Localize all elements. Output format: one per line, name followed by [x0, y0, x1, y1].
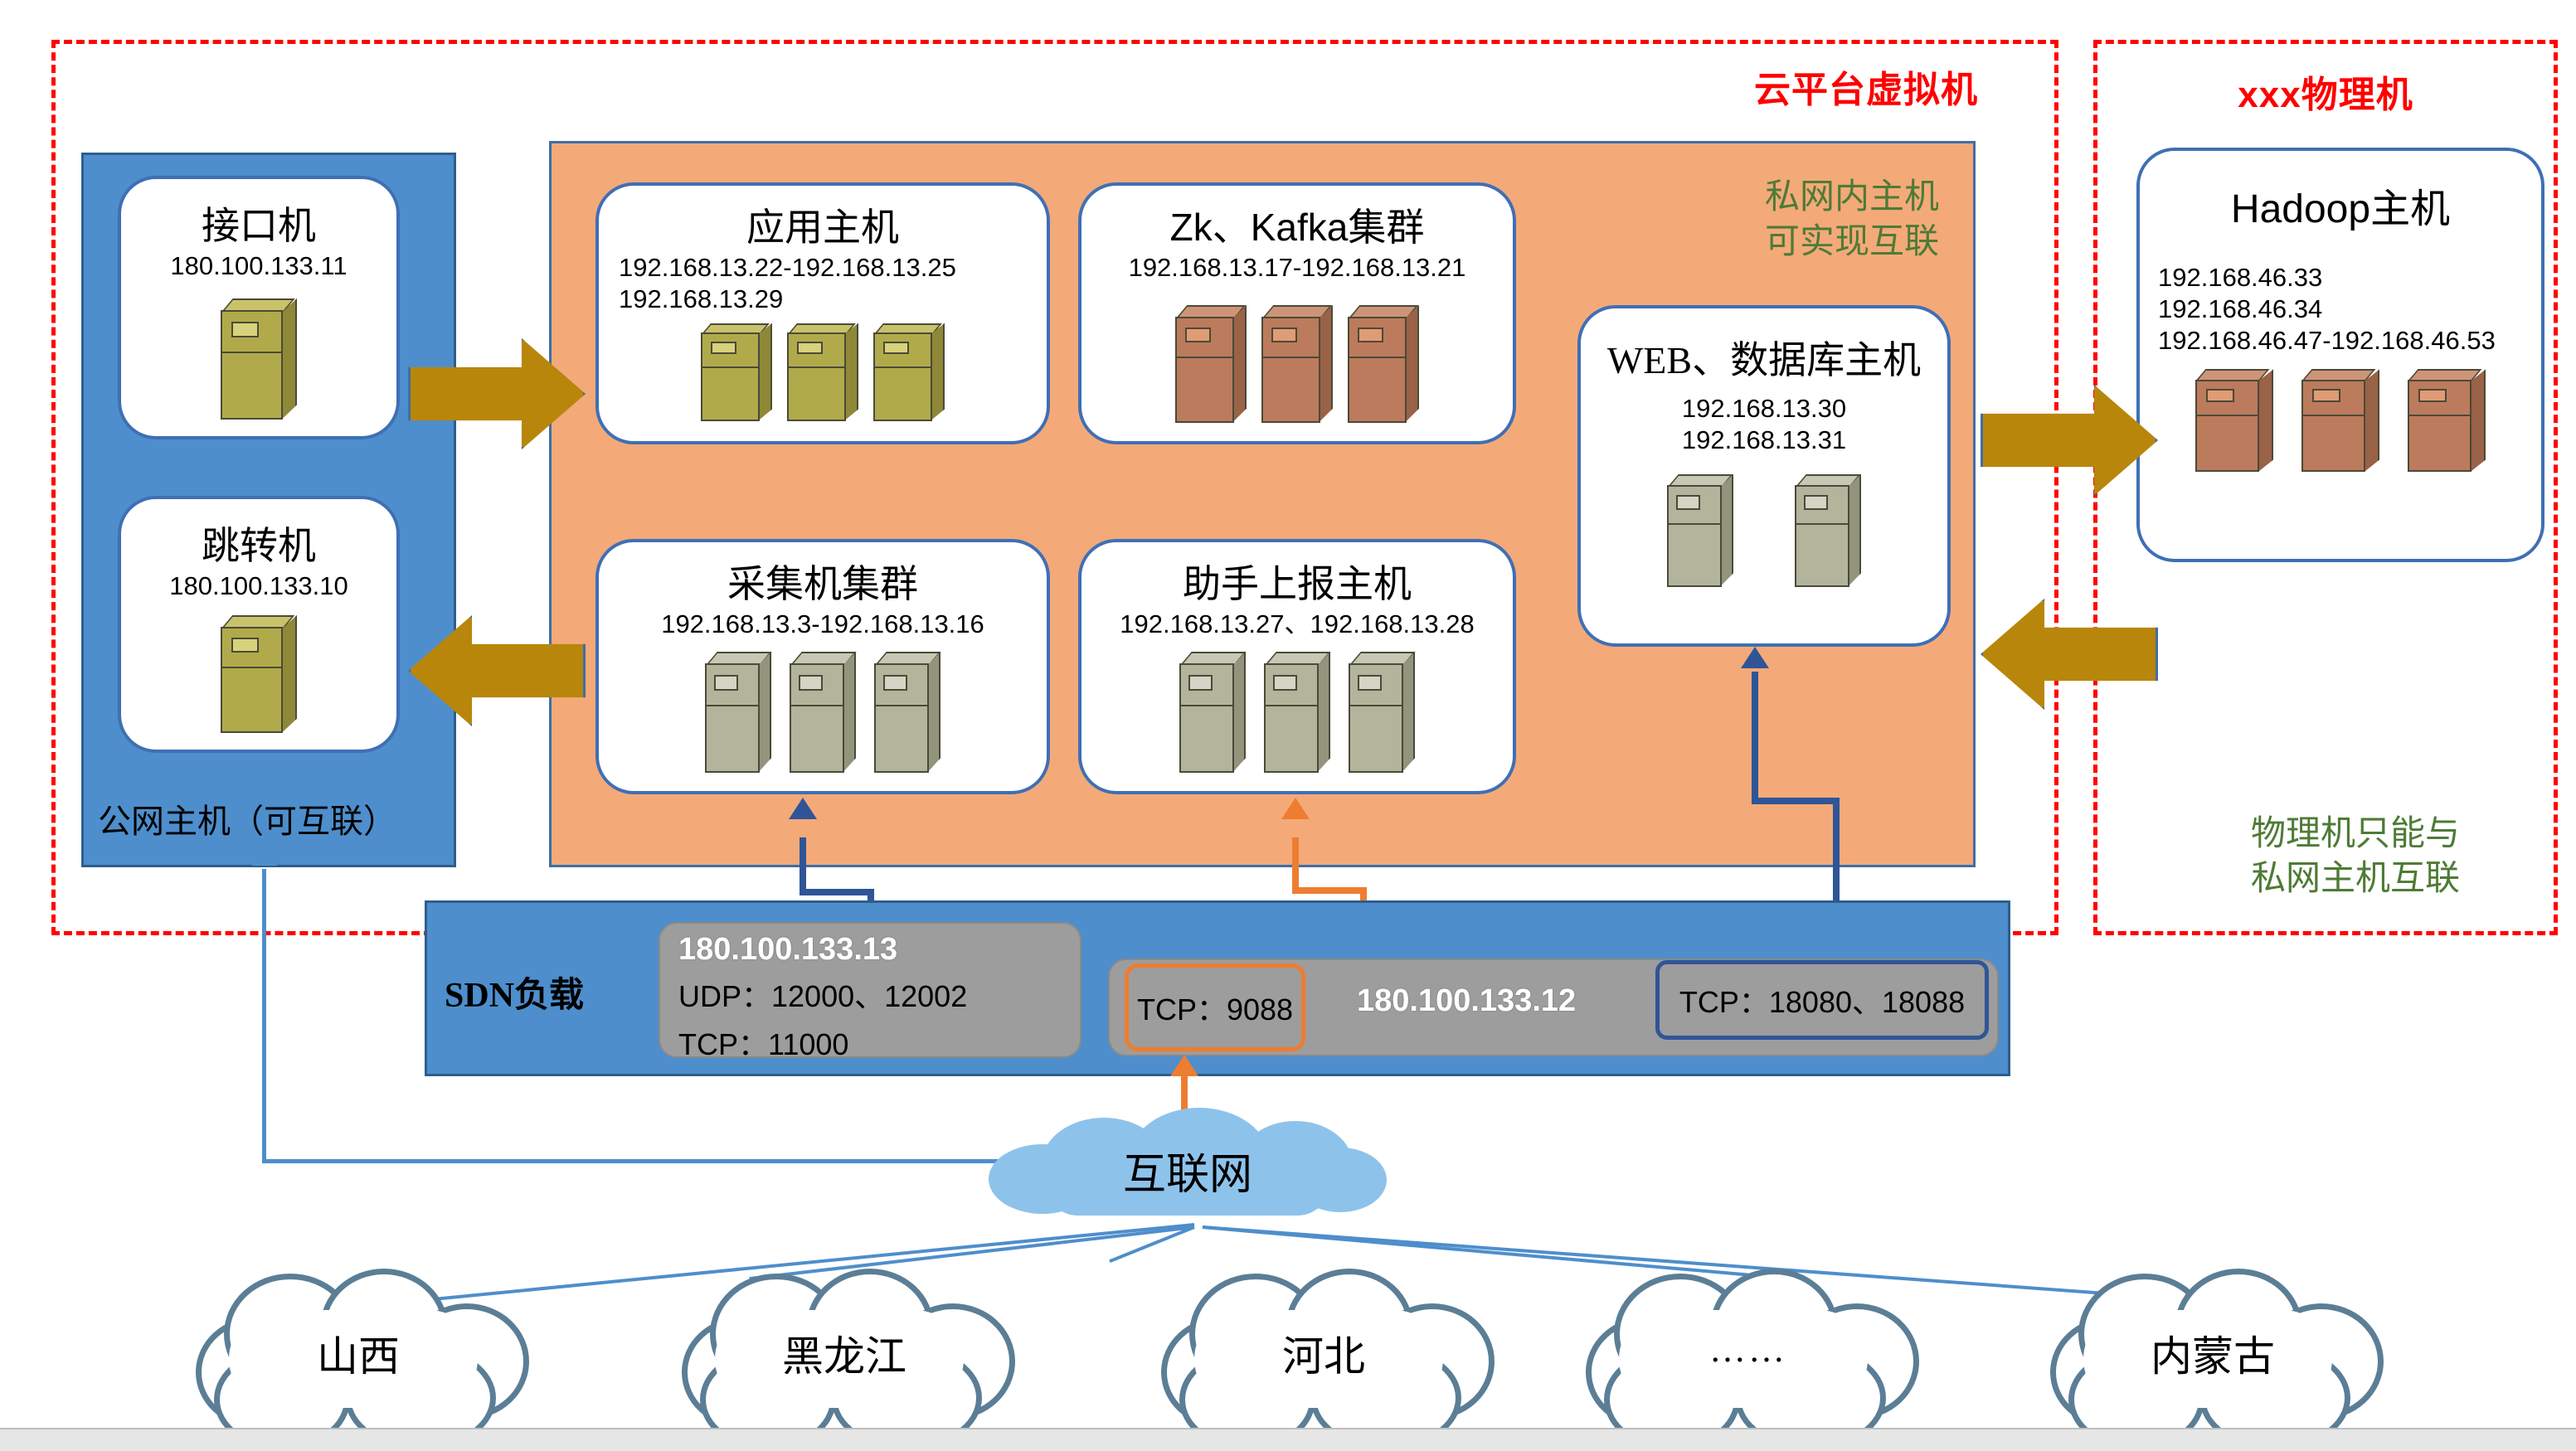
host-title: 助手上报主机 [1183, 554, 1412, 609]
host-ip-line2: 192.168.13.31 [1682, 425, 1846, 456]
host-card-application[interactable]: 应用主机 192.168.13.22-192.168.13.25 192.168… [595, 182, 1050, 444]
host-ip-line1: 192.168.13.17-192.168.13.21 [1129, 252, 1466, 284]
host-ip: 180.100.133.11 [170, 250, 347, 282]
host-ip: 180.100.133.10 [169, 570, 348, 602]
province-cloud-neimenggu[interactable]: 内蒙古 [2050, 1269, 2375, 1441]
connector-webdb-vertical [1752, 672, 1758, 804]
internet-cloud[interactable]: 互联网 [989, 1108, 1387, 1216]
host-card-zk-kafka[interactable]: Zk、Kafka集群 192.168.13.17-192.168.13.21 [1078, 182, 1516, 444]
host-ip-line3: 192.168.46.47-192.168.46.53 [2158, 325, 2496, 357]
network-architecture-diagram: 云平台虚拟机 xxx物理机 接口机 180.100.133.11 跳转机 180… [0, 0, 2576, 1451]
arrowhead-public-zone [252, 846, 277, 866]
province-label: 黑龙江 [682, 1323, 1007, 1383]
host-title: Zk、Kafka集群 [1170, 197, 1425, 252]
internet-cloud-label: 互联网 [989, 1139, 1387, 1201]
server-icon [873, 323, 945, 421]
province-cloud-shanxi[interactable]: 山西 [196, 1269, 521, 1441]
server-icon [1348, 305, 1419, 423]
server-icon [1175, 305, 1247, 423]
physical-zone-note: 物理机只能与 私网主机互联 [2165, 813, 2546, 902]
host-ip-line2: 192.168.46.34 [2158, 294, 2322, 325]
province-cloud-hebei[interactable]: 河北 [1161, 1269, 1486, 1441]
host-card-collector-cluster[interactable]: 采集机集群 192.168.13.3-192.168.13.16 [595, 539, 1050, 794]
sdn-group-a[interactable]: 180.100.133.13 UDP：12000、12002 TCP：11000 [659, 922, 1081, 1058]
public-zone-label: 公网主机（可互联） [98, 794, 396, 842]
server-icon [1179, 652, 1246, 773]
server-group [1179, 652, 1415, 773]
server-icon [2301, 369, 2379, 472]
region-cloud-platform-title: 云平台虚拟机 [1700, 60, 2032, 113]
host-card-web-database[interactable]: WEB、数据库主机 192.168.13.30 192.168.13.31 [1577, 305, 1951, 647]
arrowhead-webdb [1741, 647, 1769, 668]
server-icon [787, 323, 858, 421]
server-icon [221, 298, 297, 420]
sdn-group-b-ip: 180.100.133.12 [1357, 983, 1576, 1019]
server-icon [2408, 369, 2486, 472]
connector-webdb-horizontal [1752, 798, 1840, 804]
province-label: 山西 [196, 1323, 521, 1383]
server-icon [701, 323, 772, 421]
server-icon [1261, 305, 1333, 423]
host-ip-line1: 192.168.46.33 [2158, 262, 2322, 294]
province-label: …… [1586, 1328, 1911, 1371]
province-cloud-heilongjiang[interactable]: 黑龙江 [682, 1269, 1007, 1441]
host-card-assistant-report[interactable]: 助手上报主机 192.168.13.27、192.168.13.28 [1078, 539, 1516, 794]
host-card-interface-machine[interactable]: 接口机 180.100.133.11 [118, 176, 400, 439]
arrowhead-assistant [1281, 798, 1310, 819]
host-title: 跳转机 [202, 516, 316, 570]
host-ip-line1: 192.168.13.27、192.168.13.28 [1120, 609, 1475, 640]
host-card-hadoop[interactable]: Hadoop主机 192.168.46.33 192.168.46.34 192… [2136, 148, 2544, 562]
sdn-port-tcp-18080-18088[interactable]: TCP：18080、18088 [1655, 960, 1989, 1040]
server-icon [705, 652, 771, 773]
host-title: 接口机 [202, 196, 316, 250]
connector-assistant-vertical [1292, 837, 1299, 892]
host-ip-line1: 192.168.13.22-192.168.13.25 [619, 252, 956, 284]
host-title: Hadoop主机 [2231, 176, 2450, 234]
connector-collector-horizontal [800, 889, 874, 895]
sdn-group-a-udp: UDP：12000、12002 [678, 973, 1080, 1016]
province-label: 内蒙古 [2050, 1323, 2375, 1383]
host-title: 采集机集群 [727, 554, 918, 609]
server-group [1667, 474, 1861, 587]
connector-assistant-horizontal [1292, 887, 1367, 894]
sdn-port-left-label: TCP：9088 [1137, 986, 1293, 1029]
host-title: 应用主机 [746, 197, 899, 252]
host-ip-line1: 192.168.13.30 [1682, 393, 1846, 425]
host-title: WEB、数据库主机 [1607, 330, 1921, 385]
connector-public-vertical [262, 869, 266, 1161]
arrowhead-collector [789, 798, 817, 819]
province-cloud-more[interactable]: …… [1586, 1269, 1911, 1441]
sdn-group-a-ip: 180.100.133.13 [678, 932, 1080, 968]
server-icon [790, 652, 856, 773]
host-ip-line2: 192.168.13.29 [619, 284, 783, 315]
sdn-port-tcp-9088[interactable]: TCP：9088 [1125, 963, 1305, 1051]
arrowhead-sdn [1170, 1055, 1198, 1076]
sdn-label: SDN负载 [445, 967, 584, 1017]
region-physical-machines-title: xxx物理机 [2093, 65, 2558, 118]
server-icon [1667, 474, 1733, 587]
server-group [705, 652, 940, 773]
page-footer-strip [0, 1428, 2576, 1451]
server-icon [874, 652, 940, 773]
host-card-jump-machine[interactable]: 跳转机 180.100.133.10 [118, 496, 400, 753]
server-group [2195, 369, 2486, 472]
server-icon [1795, 474, 1861, 587]
connector-public-horizontal [262, 1159, 1009, 1163]
host-ip-line1: 192.168.13.3-192.168.13.16 [661, 609, 984, 640]
sdn-group-a-tcp: TCP：11000 [678, 1021, 1080, 1064]
server-group [1175, 305, 1419, 423]
server-icon [221, 615, 297, 733]
server-group [701, 323, 945, 421]
server-icon [1349, 652, 1415, 773]
province-label: 河北 [1161, 1323, 1486, 1383]
private-zone-note: 私网内主机 可实现互联 [1765, 176, 1964, 265]
sdn-port-right-label: TCP：18080、18088 [1679, 978, 1965, 1022]
server-icon [2195, 369, 2273, 472]
server-icon [1264, 652, 1330, 773]
connector-collector-vertical [800, 837, 806, 895]
